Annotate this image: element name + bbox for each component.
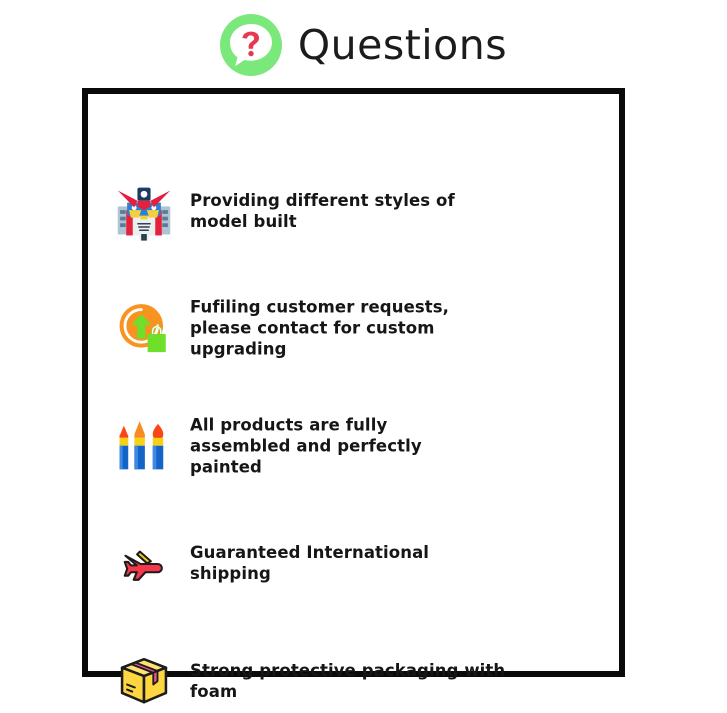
- question-speech-bubble-icon: [220, 14, 282, 76]
- questions-infographic: Questions: [0, 0, 727, 700]
- questions-panel: Providing different styles of model buil…: [82, 88, 625, 677]
- package-box-icon: [110, 651, 178, 713]
- page-title: Questions: [298, 25, 507, 66]
- list-item: Providing different styles of model buil…: [110, 181, 600, 243]
- upgrade-shopping-bag-icon: [110, 298, 178, 360]
- list-item-label: All products are fully assembled and per…: [178, 416, 490, 479]
- page-header: Questions: [0, 10, 727, 80]
- list-item: All products are fully assembled and per…: [110, 416, 600, 479]
- list-item-label: Providing different styles of model buil…: [178, 191, 490, 233]
- airplane-icon: [110, 533, 178, 595]
- list-item: Strong protective packaging with foam: [110, 651, 600, 713]
- list-item-label: Fufiling customer requests, please conta…: [178, 298, 490, 361]
- list-item: Guaranteed International shipping: [110, 533, 600, 595]
- paint-brushes-icon: [110, 416, 178, 478]
- list-item: Fufiling customer requests, please conta…: [110, 298, 600, 361]
- list-item-label: Guaranteed International shipping: [178, 543, 490, 585]
- list-item-label: Strong protective packaging with foam: [178, 661, 520, 703]
- gundam-robot-head-icon: [110, 181, 178, 243]
